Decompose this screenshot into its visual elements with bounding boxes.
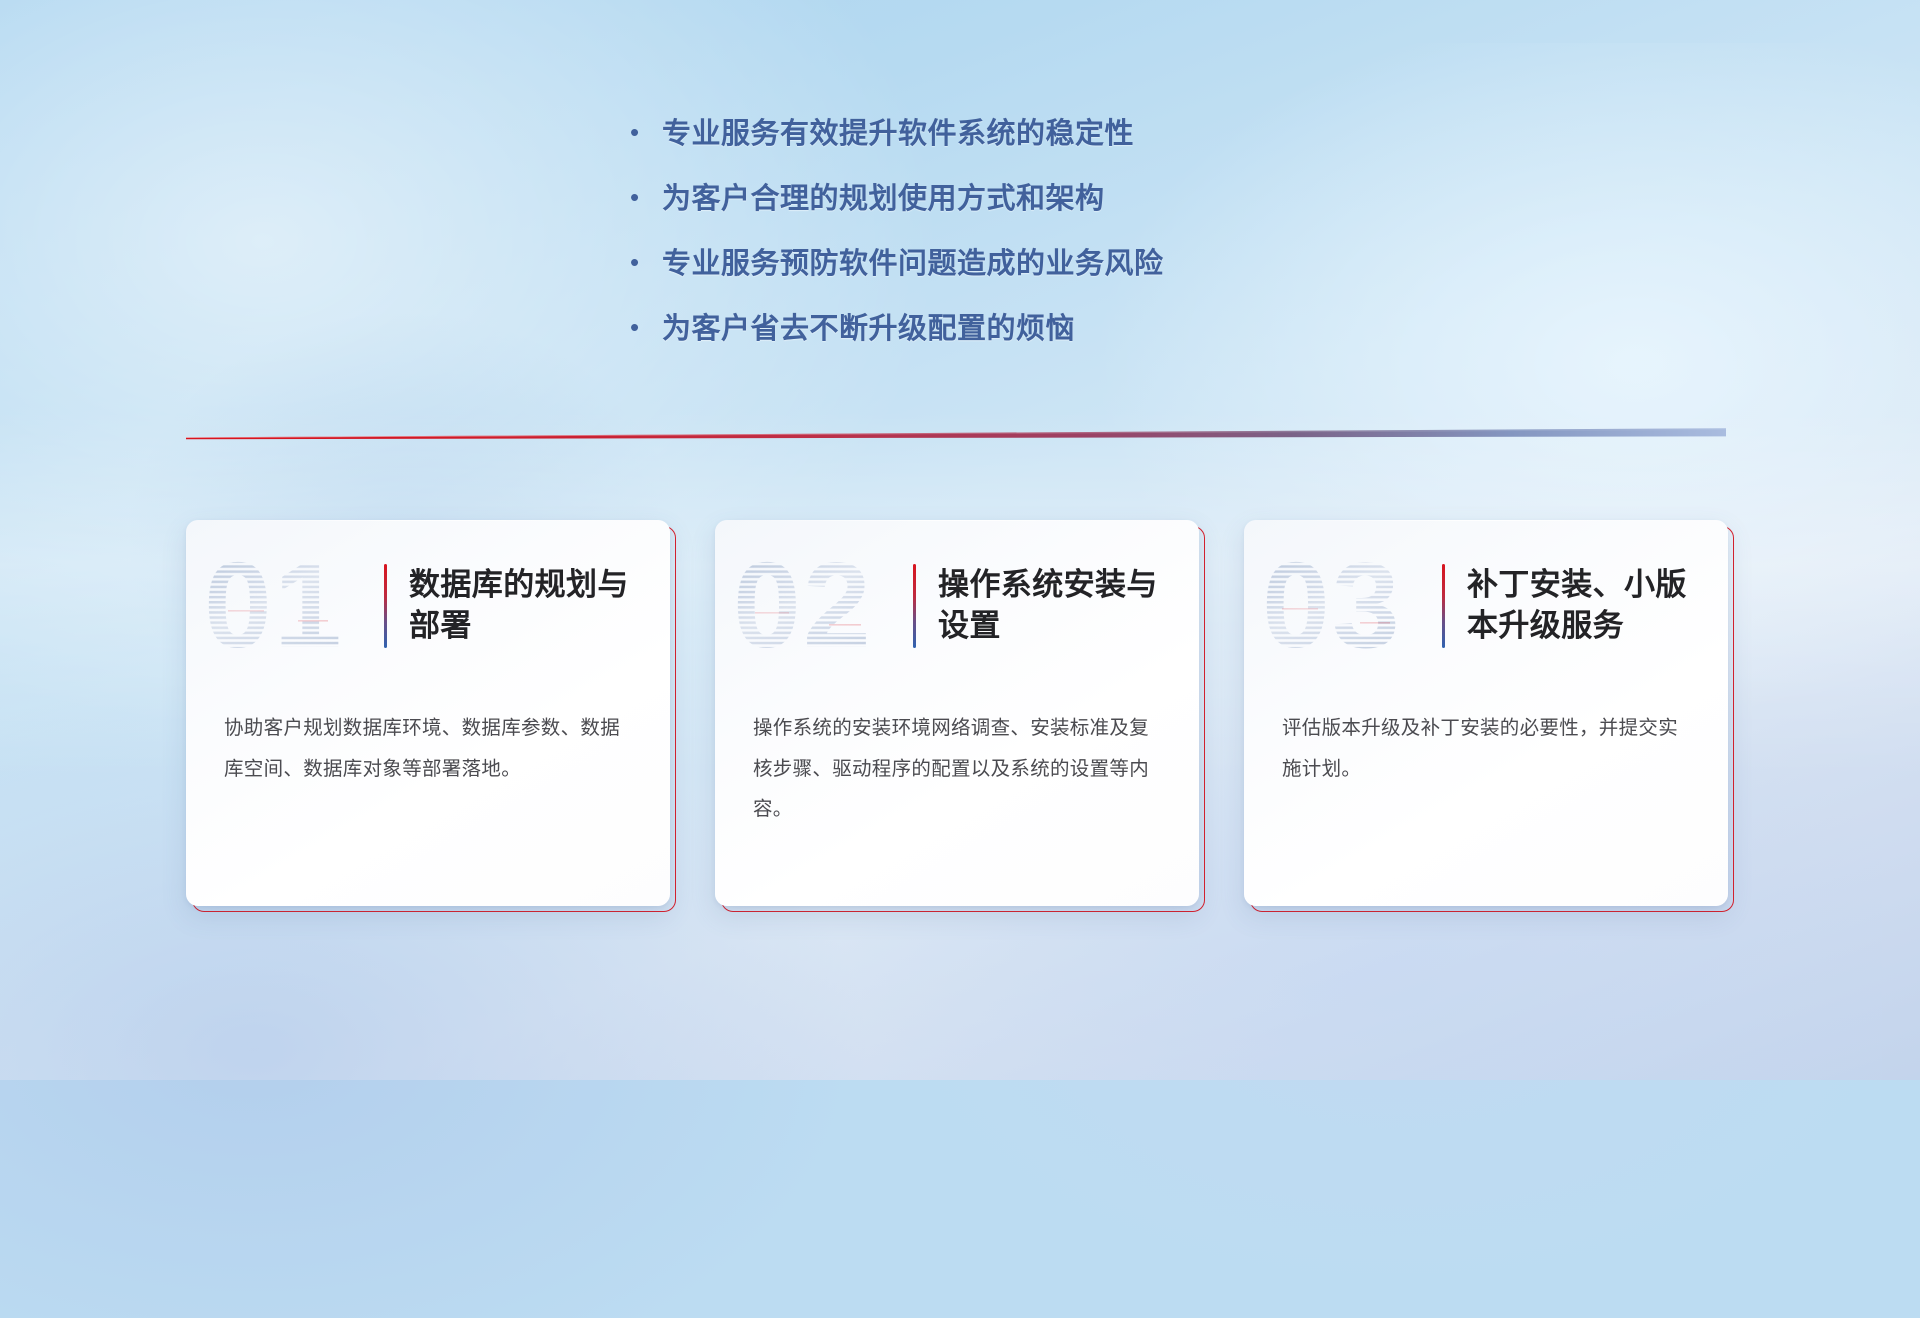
card-number-text-03: 03 [1262,550,1402,662]
card-number-watermark: 03 [1260,550,1442,662]
benefits-bullet-list: • 专业服务有效提升软件系统的稳定性 • 为客户合理的规划使用方式和架构 • 专… [0,110,1920,370]
card-top-highlight [1258,520,1714,521]
card-number-text-02: 02 [733,550,873,662]
striped-number-icon: 01 [202,550,384,662]
bullet-label: 专业服务预防软件问题造成的业务风险 [662,240,1164,282]
tapered-rule-icon [186,424,1726,446]
bullet-marker-icon: • [630,249,662,275]
list-item: • 为客户省去不断升级配置的烦恼 [630,305,1290,370]
card-top-highlight [200,520,656,521]
card-header: 03 补丁安装、小版本升级服务 [1244,538,1728,674]
bullet-label: 专业服务有效提升软件系统的稳定性 [662,110,1134,152]
card-surface: 01 数据库的规划与部署 协助客户规划数据库环境、数据库参数、数据库空间、数据库… [186,520,670,906]
service-card-01[interactable]: 01 数据库的规划与部署 协助客户规划数据库环境、数据库参数、数据库空间、数据库… [186,520,676,912]
card-description: 操作系统的安装环境网络调查、安装标准及复核步骤、驱动程序的配置以及系统的设置等内… [753,708,1165,830]
bullet-marker-icon: • [630,119,662,145]
card-header: 01 数据库的规划与部署 [186,538,670,674]
card-accent-rule [913,564,916,648]
service-card-list: 01 数据库的规划与部署 协助客户规划数据库环境、数据库参数、数据库空间、数据库… [186,520,1734,920]
bullet-marker-icon: • [630,314,662,340]
card-description: 评估版本升级及补丁安装的必要性，并提交实施计划。 [1282,708,1694,789]
bullet-label: 为客户省去不断升级配置的烦恼 [662,305,1075,347]
card-accent-rule [1442,564,1445,648]
striped-number-icon: 02 [731,550,913,662]
card-top-highlight [729,520,1185,521]
section-divider [186,424,1726,446]
list-item: • 专业服务预防软件问题造成的业务风险 [630,240,1290,305]
card-description: 协助客户规划数据库环境、数据库参数、数据库空间、数据库对象等部署落地。 [224,708,636,789]
list-item: • 为客户合理的规划使用方式和架构 [630,175,1290,240]
service-card-02[interactable]: 02 操作系统安装与设置 操作系统的安装环境网络调查、安装标准及复核步骤、驱动程… [715,520,1205,912]
service-card-03[interactable]: 03 补丁安装、小版本升级服务 评估版本升级及补丁安装的必要性，并提交实施计划。 [1244,520,1734,912]
card-title: 补丁安装、小版本升级服务 [1467,565,1728,647]
card-number-watermark: 01 [202,550,384,662]
card-title: 数据库的规划与部署 [409,565,670,647]
card-accent-rule [384,564,387,648]
card-surface: 02 操作系统安装与设置 操作系统的安装环境网络调查、安装标准及复核步骤、驱动程… [715,520,1199,906]
card-number-watermark: 02 [731,550,913,662]
bullet-marker-icon: • [630,184,662,210]
card-header: 02 操作系统安装与设置 [715,538,1199,674]
card-title: 操作系统安装与设置 [938,565,1199,647]
striped-number-icon: 03 [1260,550,1442,662]
card-surface: 03 补丁安装、小版本升级服务 评估版本升级及补丁安装的必要性，并提交实施计划。 [1244,520,1728,906]
bullet-label: 为客户合理的规划使用方式和架构 [662,175,1105,217]
card-number-text-01: 01 [204,550,344,662]
list-item: • 专业服务有效提升软件系统的稳定性 [630,110,1290,175]
